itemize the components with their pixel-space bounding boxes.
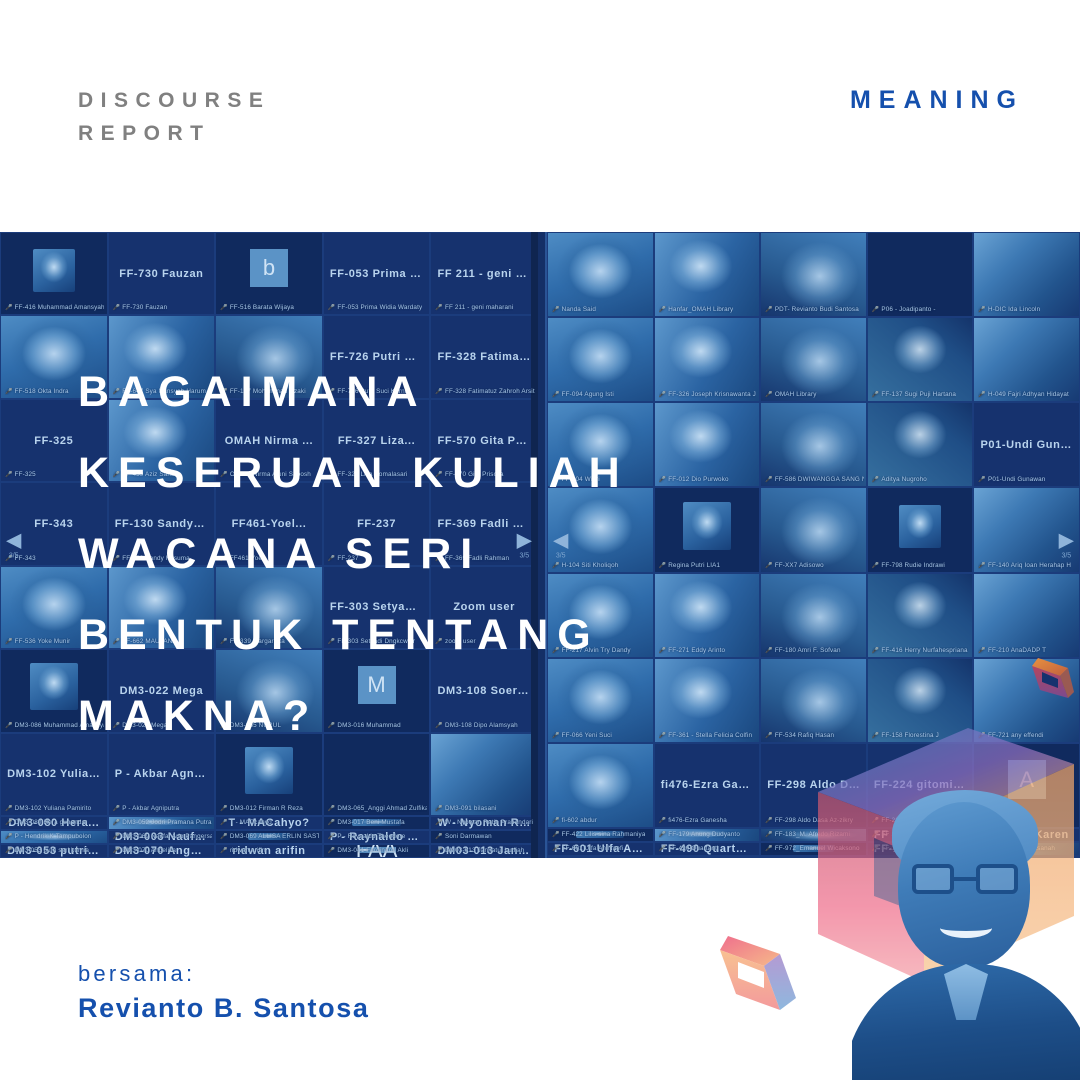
- chevron-left-icon: ◀: [6, 531, 21, 551]
- participant-tile[interactable]: P - Raynaldo Th...🎤P - Raynaldo Theodore: [323, 830, 431, 844]
- participant-avatar: [899, 505, 941, 548]
- participant-tile[interactable]: 🎤Hanfar_OMAH Library: [654, 232, 761, 317]
- participant-name-text: DM3-052 Jodri Pramana Putra: [122, 819, 211, 826]
- microphone-icon: 🎤: [5, 833, 13, 840]
- participant-name-text: Hanfar_OMAH Library: [668, 306, 733, 313]
- participant-name-label: 🎤DM3-053 putri sari kurnia: [5, 847, 89, 854]
- participant-name-label: 🎤fi476-Ezra Ganesha: [659, 817, 727, 824]
- participant-tile[interactable]: b🎤FF-516 Barata Wijaya: [215, 232, 323, 315]
- microphone-icon: 🎤: [552, 831, 560, 838]
- participant-tile[interactable]: FAA🎤DM3-041 Ferdinand Akli: [323, 844, 431, 858]
- participant-name-text: FF-601 Ulfa An Naefi: [562, 845, 624, 852]
- microphone-icon: 🎤: [659, 306, 667, 313]
- participant-name-text: DM3-017 Beni Mustafa: [337, 819, 404, 826]
- participant-tile[interactable]: DM03-013 Jann...🎤DM03-013 Jannatul Lutfi…: [430, 844, 538, 858]
- next-page-button-right[interactable]: ▶ 3/5: [1059, 531, 1074, 560]
- participant-name-text: FF-140 Ariq Ioan Herahap H: [988, 562, 1071, 569]
- participant-avatar: [30, 663, 79, 710]
- microphone-icon: 🎤: [220, 805, 228, 812]
- speaker-name: Revianto B. Santosa: [78, 993, 369, 1024]
- brand-line-2: REPORT: [78, 117, 270, 150]
- title-line-3: WACANA SERI: [78, 514, 718, 595]
- microphone-icon: 🎤: [765, 732, 773, 739]
- credit-prefix: bersama:: [78, 961, 369, 987]
- microphone-icon: 🎤: [978, 306, 986, 313]
- participant-name-text: W - Nyoman Ratih Prabandari: [445, 819, 533, 826]
- participant-video: [761, 233, 866, 316]
- participant-tile[interactable]: 🎤FF-586 DWIWANGGA SANG NALENDRA HAQI: [760, 402, 867, 487]
- title-line-2: KESERUAN KULIAH: [78, 433, 718, 514]
- microphone-icon: 🎤: [435, 833, 443, 840]
- participant-name-text: FF-586 DWIWANGGA SANG NALENDRA HAQI: [775, 476, 864, 483]
- 3d-cube-frame-small-icon: [706, 928, 802, 1024]
- participant-video: [761, 488, 866, 571]
- microphone-icon: 🎤: [765, 391, 773, 398]
- participant-name-label: 🎤DM3-017 Beni Mustafa: [328, 819, 405, 826]
- participant-name-label: 🎤Aditya Nugroho: [872, 476, 927, 483]
- participant-name-text: P06 - Joadipanto -: [881, 306, 935, 313]
- participant-name-label: 🎤FF-422 Lilis sina Rahmaniya: [552, 831, 645, 838]
- participant-tile[interactable]: 🎤DM3-052 Jodri Pramana Putra: [108, 816, 216, 830]
- participant-tile[interactable]: 🎤FF-180 Amri F. Sofvan: [760, 573, 867, 658]
- participant-name-text: P - Raynaldo Theodore: [337, 833, 405, 840]
- participant-tile[interactable]: 🎤FF-XX7 Adisowo: [760, 487, 867, 572]
- microphone-icon: 🎤: [5, 304, 13, 311]
- page-indicator-left: 3/5: [9, 553, 19, 560]
- participant-name-text: H-049 Fajri Adhyan Hidayat: [988, 391, 1069, 398]
- microphone-icon: 🎤: [220, 819, 228, 826]
- microphone-icon: 🎤: [659, 831, 667, 838]
- participant-name-text: FF-416 Muhammad Amansyah: [15, 304, 105, 311]
- microphone-icon: 🎤: [872, 306, 880, 313]
- participant-name-text: DM3-053 putri sari kurnia: [15, 847, 89, 854]
- participant-display-name: DM3-102 Yuliani...: [3, 768, 104, 780]
- participant-name-text: ridwan arifin: [230, 847, 266, 854]
- participant-tile[interactable]: 🎤Aditya Nugroho: [867, 402, 974, 487]
- participant-video: [761, 403, 866, 486]
- participant-name-text: DM3-069 Naufal Ario Pangersa: [122, 833, 212, 840]
- prev-page-button-left[interactable]: ◀ 3/5: [6, 531, 21, 560]
- participant-name-text: H-DIC Ida Lincoln: [988, 306, 1040, 313]
- participant-name-label: 🎤H-049 Fajri Adhyan Hidayat: [978, 391, 1069, 398]
- participant-name-text: OMAH Library: [775, 391, 817, 398]
- microphone-icon: 🎤: [659, 817, 667, 824]
- glasses-icon: [912, 864, 1018, 894]
- microphone-icon: 🎤: [978, 647, 986, 654]
- participant-name-label: 🎤DM3-041 Ferdinand Akli: [328, 847, 408, 854]
- microphone-icon: 🎤: [328, 805, 336, 812]
- microphone-icon: 🎤: [5, 819, 13, 826]
- series-label: MEANING: [850, 86, 1024, 115]
- participant-name-label: 🎤Hanfar_OMAH Library: [659, 306, 734, 313]
- microphone-icon: 🎤: [765, 831, 773, 838]
- chevron-right-icon: ▶: [1059, 531, 1074, 551]
- participant-name-text: FF-490 Quartanti: [668, 845, 718, 852]
- participant-name-label: 🎤FF-730 Fauzan: [113, 304, 168, 311]
- participant-display-name: FF 211 - geni ma...: [434, 268, 535, 280]
- participant-name-label: 🎤FF 211 - geni maharani: [435, 304, 513, 311]
- microphone-icon: 🎤: [113, 304, 121, 311]
- participant-name-text: DM3-091 bilasani: [445, 805, 496, 812]
- participant-name-label: 🎤FF-416 Herry Nurfahespriana: [872, 647, 968, 654]
- participant-name-text: P01-Undi Gunawan: [988, 476, 1045, 483]
- participant-name-text: DM3-080 Hera gunandar: [15, 819, 88, 826]
- microphone-icon: 🎤: [765, 476, 773, 483]
- microphone-icon: 🎤: [978, 476, 986, 483]
- participant-name-text: fi-602 abdur: [562, 817, 597, 824]
- title-line-4: BENTUK TENTANG: [78, 595, 718, 676]
- participant-name-text: FF-137 Sugi Puji Hartana: [881, 391, 956, 398]
- microphone-icon: 🎤: [5, 388, 13, 395]
- participant-name-label: 🎤FF-518 Okta Indra: [5, 388, 69, 395]
- microphone-icon: 🎤: [220, 833, 228, 840]
- 3d-cube-frame-tiny-icon: [1024, 652, 1078, 706]
- participant-name-label: 🎤P01-Undi Gunawan: [978, 476, 1045, 483]
- microphone-icon: 🎤: [113, 805, 121, 812]
- participant-name-label: 🎤DM3-052 Jodri Pramana Putra: [113, 819, 212, 826]
- participant-tile[interactable]: 🎤P - Hendrik K Tampubolon: [0, 830, 108, 844]
- participant-tile[interactable]: 🎤FF-179 Anung Dudyanto: [654, 828, 761, 842]
- participant-tile[interactable]: 🎤FF-798 Rudie Indrawi: [867, 487, 974, 572]
- participant-tile[interactable]: 🎤H-049 Fajri Adhyan Hidayat: [973, 317, 1080, 402]
- brand-line-1: DISCOURSE: [78, 89, 270, 112]
- participant-name-label: 🎤DM3-091 bilasani: [435, 805, 496, 812]
- participant-display-name: FF-053 Prima Wi...: [326, 268, 427, 280]
- speaker-portrait: [852, 768, 1080, 1080]
- participant-name-label: 🎤DM3-102 Yuliana Pamirito: [5, 805, 91, 812]
- participant-tile[interactable]: 🎤FF-231 Stacy Scania: [654, 856, 761, 858]
- participant-name-text: fi476-Ezra Ganesha: [668, 817, 727, 824]
- participant-display-name: P01-Undi Guna...: [976, 439, 1076, 451]
- participant-name-text: DM3-070 Angelika: [122, 847, 176, 854]
- participant-name-label: 🎤P - Akbar Agniputra: [113, 805, 180, 812]
- participant-tile[interactable]: FF-490 Quartanti🎤FF-490 Quartanti: [654, 842, 761, 856]
- participant-name-label: 🎤W - Nyoman Ratih Prabandari: [435, 819, 533, 826]
- microphone-icon: 🎤: [872, 647, 880, 654]
- participant-video: [974, 318, 1079, 401]
- participant-name-label: 🎤DM3-069 Naufal Ario Pangersa: [113, 833, 212, 840]
- microphone-icon: 🎤: [765, 647, 773, 654]
- participant-name-text: Soni Darmawan: [445, 833, 492, 840]
- microphone-icon: 🎤: [328, 304, 336, 311]
- participant-name-label: 🎤DM03-013 Jannatul Lutfiah: [435, 847, 524, 854]
- participant-tile[interactable]: DM3-070 Angelika🎤DM3-070 Angelika: [108, 844, 216, 858]
- participant-name-text: FF-325: [15, 471, 36, 478]
- participant-name-label: 🎤DM3-069 ALLISA ERLIN SASTRI: [220, 833, 319, 840]
- participant-tile[interactable]: DM3-003 Naufal...🎤DM3-069 Naufal Ario Pa…: [108, 830, 216, 844]
- participant-video: [761, 318, 866, 401]
- microphone-icon: 🎤: [435, 819, 443, 826]
- participant-name-label: 🎤FF-XX7 Adisowo: [765, 562, 824, 569]
- participant-tile[interactable]: 🎤FF-422 Lilis sina Rahmaniya: [547, 828, 654, 842]
- participant-name-label: 🎤FF-137 Sugi Puji Hartana: [872, 391, 956, 398]
- participant-tile[interactable]: 🎤OMAH Library: [760, 317, 867, 402]
- microphone-icon: 🎤: [5, 805, 13, 812]
- participant-name-label: 🎤Nanda Said: [552, 306, 596, 313]
- participant-video: [974, 574, 1079, 657]
- participant-tile[interactable]: 🎤FF-137 Sugi Puji Hartana: [867, 317, 974, 402]
- participant-tile[interactable]: 🎤FF-442 Nadiya Putri Azzura: [547, 856, 654, 858]
- participant-tile[interactable]: 🎤FF-416 Herry Nurfahespriana: [867, 573, 974, 658]
- microphone-icon: 🎤: [5, 471, 13, 478]
- participant-name-label: 🎤FF-490 Quartanti: [659, 845, 719, 852]
- participant-name-label: 🎤FF-536 Yoke Munir: [5, 638, 70, 645]
- participant-name-label: 🎤DM3-012 Firman R Reza: [220, 805, 303, 812]
- title-line-5: MAKNA?: [78, 676, 718, 757]
- microphone-icon: 🎤: [552, 817, 560, 824]
- participant-name-label: 🎤DM3-065_Anggi Ahmad Zulfikar F: [328, 805, 427, 812]
- participant-name-text: DM3-102 Yuliana Pamirito: [15, 805, 92, 812]
- microphone-icon: 🎤: [328, 833, 336, 840]
- microphone-icon: 🎤: [328, 847, 336, 854]
- participant-video: [548, 233, 653, 316]
- participant-name-label: 🎤FF-798 Rudie Indrawi: [872, 562, 945, 569]
- participant-video: [868, 574, 973, 657]
- participant-display-name: FF-325: [30, 435, 77, 447]
- participant-tile[interactable]: 🎤FF-210 AnaDADP T: [973, 573, 1080, 658]
- participant-tile[interactable]: 🎤DM3-069 ALLISA ERLIN SASTRI: [215, 830, 323, 844]
- participant-tile[interactable]: FF-601 Ulfa An...🎤FF-601 Ulfa An Naefi: [547, 842, 654, 856]
- participant-tile[interactable]: DM3-080 Hera...🎤DM3-080 Hera gunandar: [0, 816, 108, 830]
- participant-name-label: 🎤FF-601 Ulfa An Naefi: [552, 845, 623, 852]
- participant-tile[interactable]: 🎤PDT- Revianto Budi Santosa: [760, 232, 867, 317]
- participant-tile[interactable]: FF-730 Fauzan🎤FF-730 Fauzan: [108, 232, 216, 315]
- page-indicator-right-2: 3/5: [1061, 553, 1071, 560]
- participant-name-label: 🎤T - MACcahyo: [220, 819, 272, 826]
- participant-name-text: T - MACcahyo: [230, 819, 272, 826]
- participant-name-label: 🎤FF-179 Anung Dudyanto: [659, 831, 740, 838]
- participant-name-label: 🎤P06 - Joadipanto -: [872, 306, 936, 313]
- participant-name-label: 🎤ridwan arifin: [220, 847, 266, 854]
- participant-name-text: Nanda Said: [562, 306, 596, 313]
- speaker-credit: bersama: Revianto B. Santosa: [78, 961, 369, 1024]
- participant-tile[interactable]: FF-053 Prima Wi...🎤FF-053 Prima Widia Wa…: [323, 232, 431, 315]
- participant-name-label: 🎤FF-586 DWIWANGGA SANG NALENDRA HAQI: [765, 476, 863, 483]
- participant-name-label: 🎤DM3-080 Hera gunandar: [5, 819, 87, 826]
- microphone-icon: 🎤: [872, 562, 880, 569]
- participant-name-text: DM3-041 Ferdinand Akli: [337, 847, 408, 854]
- participant-tile[interactable]: FF 211 - geni ma...🎤FF 211 - geni mahara…: [430, 232, 538, 315]
- participant-display-name: P - Akbar Agnip...: [111, 768, 212, 780]
- microphone-icon: 🎤: [113, 833, 121, 840]
- participant-name-text: FF 211 - geni maharani: [445, 304, 513, 311]
- participant-name-text: Aditya Nugroho: [881, 476, 927, 483]
- microphone-icon: 🎤: [220, 304, 228, 311]
- participant-tile[interactable]: 🎤DM3-017 Beni Mustafa: [323, 816, 431, 830]
- microphone-icon: 🎤: [435, 805, 443, 812]
- microphone-icon: 🎤: [435, 847, 443, 854]
- microphone-icon: 🎤: [552, 845, 560, 852]
- participant-tile[interactable]: ridwan arifin🎤ridwan arifin: [215, 844, 323, 858]
- microphone-icon: 🎤: [552, 306, 560, 313]
- participant-name-label: 🎤OMAH Library: [765, 391, 816, 398]
- microphone-icon: 🎤: [113, 819, 121, 826]
- participant-tile[interactable]: 🎤FF-416 Muhammad Amansyah: [0, 232, 108, 315]
- participant-tile[interactable]: 🎤H-DIC Ida Lincoln: [973, 232, 1080, 317]
- header: DISCOURSE REPORT MEANING: [0, 0, 1080, 232]
- participant-avatar: [33, 249, 75, 291]
- participant-name-text: FF-518 Okta Indra: [15, 388, 69, 395]
- participant-video: [974, 233, 1079, 316]
- participant-video: [761, 574, 866, 657]
- microphone-icon: 🎤: [765, 817, 773, 824]
- participant-display-name: fi476-Ezra Gane...: [657, 779, 757, 791]
- page-title: BAGAIMANA KESERUAN KULIAH WACANA SERI BE…: [78, 352, 718, 757]
- participant-display-name: FF-730 Fauzan: [115, 268, 207, 280]
- participant-video: [655, 233, 760, 316]
- microphone-icon: 🎤: [765, 562, 773, 569]
- participant-name-text: DM3-069 ALLISA ERLIN SASTRI: [230, 833, 320, 840]
- participant-tile[interactable]: 🎤P06 - Joadipanto -: [867, 232, 974, 317]
- participant-name-text: FF-516 Barata Wijaya: [230, 304, 294, 311]
- microphone-icon: 🎤: [978, 562, 986, 569]
- participant-name-text: FF-180 Amri F. Sofvan: [775, 647, 841, 654]
- participant-name-text: FF-XX7 Adisowo: [775, 562, 824, 569]
- participant-name-text: P - Hendrik K Tampubolon: [15, 833, 92, 840]
- participant-tile[interactable]: 🎤Soni Darmawan: [430, 830, 538, 844]
- microphone-icon: 🎤: [765, 845, 773, 852]
- participant-name-label: 🎤H-DIC Ida Lincoln: [978, 306, 1040, 313]
- brand-title: DISCOURSE REPORT: [78, 84, 270, 150]
- microphone-icon: 🎤: [765, 306, 773, 313]
- participant-name-text: FF-179 Anung Dudyanto: [668, 831, 740, 838]
- title-line-1: BAGAIMANA: [78, 352, 718, 433]
- microphone-icon: 🎤: [5, 722, 13, 729]
- microphone-icon: 🎤: [113, 847, 121, 854]
- participant-name-label: 🎤Soni Darmawan: [435, 833, 491, 840]
- microphone-icon: 🎤: [435, 304, 443, 311]
- participant-name-label: 🎤FF-325: [5, 471, 36, 478]
- participant-name-label: 🎤DM3-070 Angelika: [113, 847, 176, 854]
- participant-display-name: FF-343: [30, 518, 77, 530]
- participant-name-text: FF-730 Fauzan: [122, 304, 167, 311]
- participant-name-label: 🎤FF-053 Prima Widia Wardaty: [328, 304, 422, 311]
- participant-name-text: PDT- Revianto Budi Santosa: [775, 306, 859, 313]
- microphone-icon: 🎤: [978, 391, 986, 398]
- microphone-icon: 🎤: [328, 819, 336, 826]
- microphone-icon: 🎤: [872, 476, 880, 483]
- microphone-icon: 🎤: [5, 847, 13, 854]
- participant-video: [868, 318, 973, 401]
- participant-name-label: 🎤P - Raynaldo Theodore: [328, 833, 406, 840]
- participant-name-text: FF-422 Lilis sina Rahmaniya: [562, 831, 646, 838]
- microphone-icon: 🎤: [5, 638, 13, 645]
- participant-tile[interactable]: W - Nyoman Rat...🎤W - Nyoman Ratih Praba…: [430, 816, 538, 830]
- microphone-icon: 🎤: [872, 391, 880, 398]
- participant-video: [868, 403, 973, 486]
- participant-name-text: P - Akbar Agniputra: [122, 805, 179, 812]
- portrait-smile: [940, 918, 992, 938]
- participant-name-text: DM03-013 Jannatul Lutfiah: [445, 847, 524, 854]
- participant-initial-avatar: b: [250, 249, 288, 286]
- participant-name-text: FF-416 Herry Nurfahespriana: [881, 647, 967, 654]
- participant-name-text: FF-536 Yoke Munir: [15, 638, 71, 645]
- participant-tile[interactable]: DM3-053 putri s...🎤DM3-053 putri sari ku…: [0, 844, 108, 858]
- participant-tile[interactable]: 🎤Nanda Said: [547, 232, 654, 317]
- participant-tile[interactable]: P01-Undi Guna...🎤P01-Undi Gunawan: [973, 402, 1080, 487]
- participant-name-text: FF-053 Prima Widia Wardaty: [337, 304, 422, 311]
- participant-tile[interactable]: T - MACahyo?🎤T - MACcahyo: [215, 816, 323, 830]
- microphone-icon: 🎤: [659, 845, 667, 852]
- participant-name-text: FF-798 Rudie Indrawi: [881, 562, 945, 569]
- participant-name-text: DM3-065_Anggi Ahmad Zulfikar F: [337, 805, 427, 812]
- participant-name-label: 🎤fi-602 abdur: [552, 817, 597, 824]
- participant-name-label: 🎤FF-140 Ariq Ioan Herahap H: [978, 562, 1071, 569]
- participant-name-label: 🎤FF-180 Amri F. Sofvan: [765, 647, 840, 654]
- microphone-icon: 🎤: [220, 847, 228, 854]
- participant-name-label: 🎤P - Hendrik K Tampubolon: [5, 833, 92, 840]
- participant-name-label: 🎤PDT- Revianto Budi Santosa: [765, 306, 859, 313]
- participant-name-label: 🎤FF-516 Barata Wijaya: [220, 304, 294, 311]
- participant-name-label: 🎤FF-416 Muhammad Amansyah: [5, 304, 104, 311]
- participant-name-text: DM3-012 Firman R Reza: [230, 805, 303, 812]
